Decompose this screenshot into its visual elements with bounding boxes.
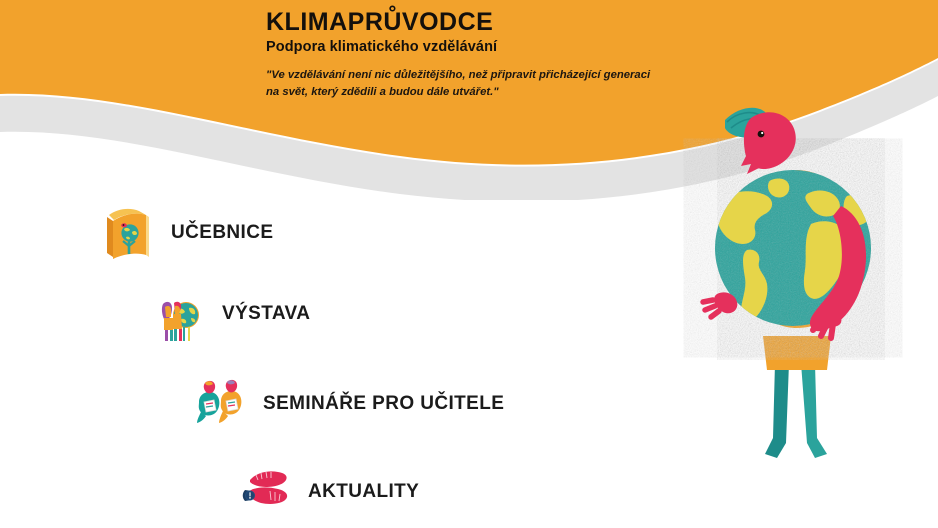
nav-item-aktuality[interactable]: AKTUALITY (236, 462, 419, 522)
main-navigation: UČEBNICE (0, 0, 560, 528)
nav-item-label: AKTUALITY (308, 481, 419, 503)
nav-item-ucebnice[interactable]: UČEBNICE (99, 203, 273, 263)
nav-item-vystava[interactable]: VÝSTAVA (150, 284, 310, 344)
people-globe-icon (150, 284, 208, 344)
hands-watch-icon (236, 462, 294, 522)
nav-item-seminare-pro-ucitele[interactable]: SEMINÁŘE PRO UČITELE (191, 374, 504, 434)
two-people-speech-icon (191, 374, 249, 434)
nav-item-label: VÝSTAVA (222, 303, 310, 325)
nav-item-label: UČEBNICE (171, 222, 273, 244)
book-globe-icon (99, 203, 157, 263)
landing-page: KLIMAPRŮVODCE Podpora klimatického vzděl… (0, 0, 938, 528)
nav-item-label: SEMINÁŘE PRO UČITELE (263, 393, 504, 415)
hero-illustration (655, 98, 938, 478)
